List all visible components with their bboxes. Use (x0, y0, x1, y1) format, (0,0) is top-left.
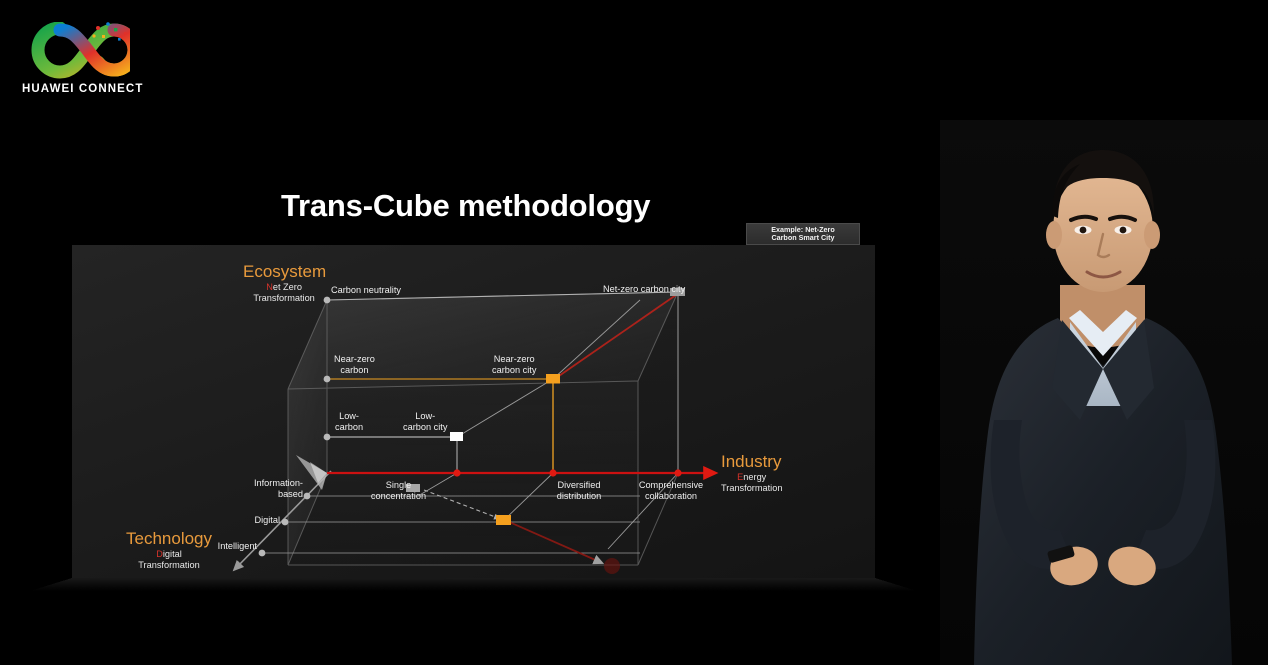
label-single-concentration-line2: concentration (371, 491, 426, 501)
label-net-zero-carbon-city: Net-zero carbon city (603, 284, 685, 295)
label-near-zero-carbon-city-line2: carbon city (492, 365, 536, 375)
label-low-carbon: Low- carbon (335, 411, 363, 433)
axis-title-ecosystem: Ecosystem Net ZeroTransformation (243, 262, 326, 304)
label-low-carbon-city-line1: Low- (415, 411, 435, 421)
label-low-carbon-city: Low- carbon city (403, 411, 447, 433)
label-near-zero-carbon-line1: Near-zero (334, 354, 375, 364)
axis-subtitle-technology: DigitalTransformation (126, 549, 212, 571)
label-single-concentration: Single concentration (361, 480, 436, 502)
huawei-connect-infinity-logo-icon (30, 22, 130, 80)
label-diversified-distribution-line1: Diversified (558, 480, 601, 490)
axis-subtitle-industry: EnergyTransformation (721, 472, 782, 494)
huawei-connect-logo: HUAWEI CONNECT (18, 20, 178, 112)
label-low-carbon-line2: carbon (335, 422, 363, 432)
axis-title-industry: Industry EnergyTransformation (721, 452, 782, 494)
label-near-zero-carbon: Near-zero carbon (334, 354, 375, 376)
example-badge: Example: Net-Zero Carbon Smart City (746, 223, 860, 245)
label-carbon-neutrality: Carbon neutrality (331, 285, 401, 296)
label-diversified-distribution: Diversified distribution (543, 480, 615, 502)
example-badge-line2: Carbon Smart City (771, 234, 834, 242)
axis-subtitle-ecosystem-line2: Transformation (253, 293, 314, 303)
label-near-zero-carbon-line2: carbon (340, 365, 368, 375)
brand-name: HUAWEI CONNECT (22, 83, 162, 95)
label-comprehensive-collaboration-line1: Comprehensive (639, 480, 703, 490)
label-information-based: Information- based (237, 478, 303, 500)
label-low-carbon-line1: Low- (339, 411, 359, 421)
label-single-concentration-line1: Single (386, 480, 412, 490)
label-information-based-line2: based (278, 489, 303, 499)
label-near-zero-carbon-city: Near-zero carbon city (492, 354, 536, 376)
axis-title-industry-label: Industry (721, 452, 782, 472)
axis-subtitle-industry-rest: nergy (743, 472, 766, 482)
axis-subtitle-technology-highlight: D (156, 549, 163, 559)
slide-stage: HUAWEI CONNECT Trans-Cube methodology Ex… (0, 0, 1268, 665)
page-title: Trans-Cube methodology (281, 188, 650, 224)
speaker-video-feed (940, 120, 1268, 665)
slide-panel-reflection (31, 578, 917, 591)
axis-subtitle-ecosystem-highlight: N (266, 282, 273, 292)
label-comprehensive-collaboration: Comprehensive collaboration (630, 480, 712, 502)
axis-subtitle-ecosystem: Net ZeroTransformation (242, 282, 326, 304)
axis-subtitle-ecosystem-rest: et Zero (273, 282, 302, 292)
label-diversified-distribution-line2: distribution (557, 491, 601, 501)
axis-subtitle-technology-line2: Transformation (138, 560, 199, 570)
axis-subtitle-industry-line2: Transformation (721, 483, 782, 493)
label-digital: Digital (218, 515, 280, 526)
axis-subtitle-technology-rest: igital (163, 549, 182, 559)
axis-title-ecosystem-label: Ecosystem (243, 262, 326, 282)
label-comprehensive-collaboration-line2: collaboration (645, 491, 697, 501)
label-information-based-line1: Information- (254, 478, 303, 488)
label-low-carbon-city-line2: carbon city (403, 422, 447, 432)
label-near-zero-carbon-city-line1: Near-zero (494, 354, 535, 364)
label-intelligent: Intelligent (196, 541, 257, 552)
